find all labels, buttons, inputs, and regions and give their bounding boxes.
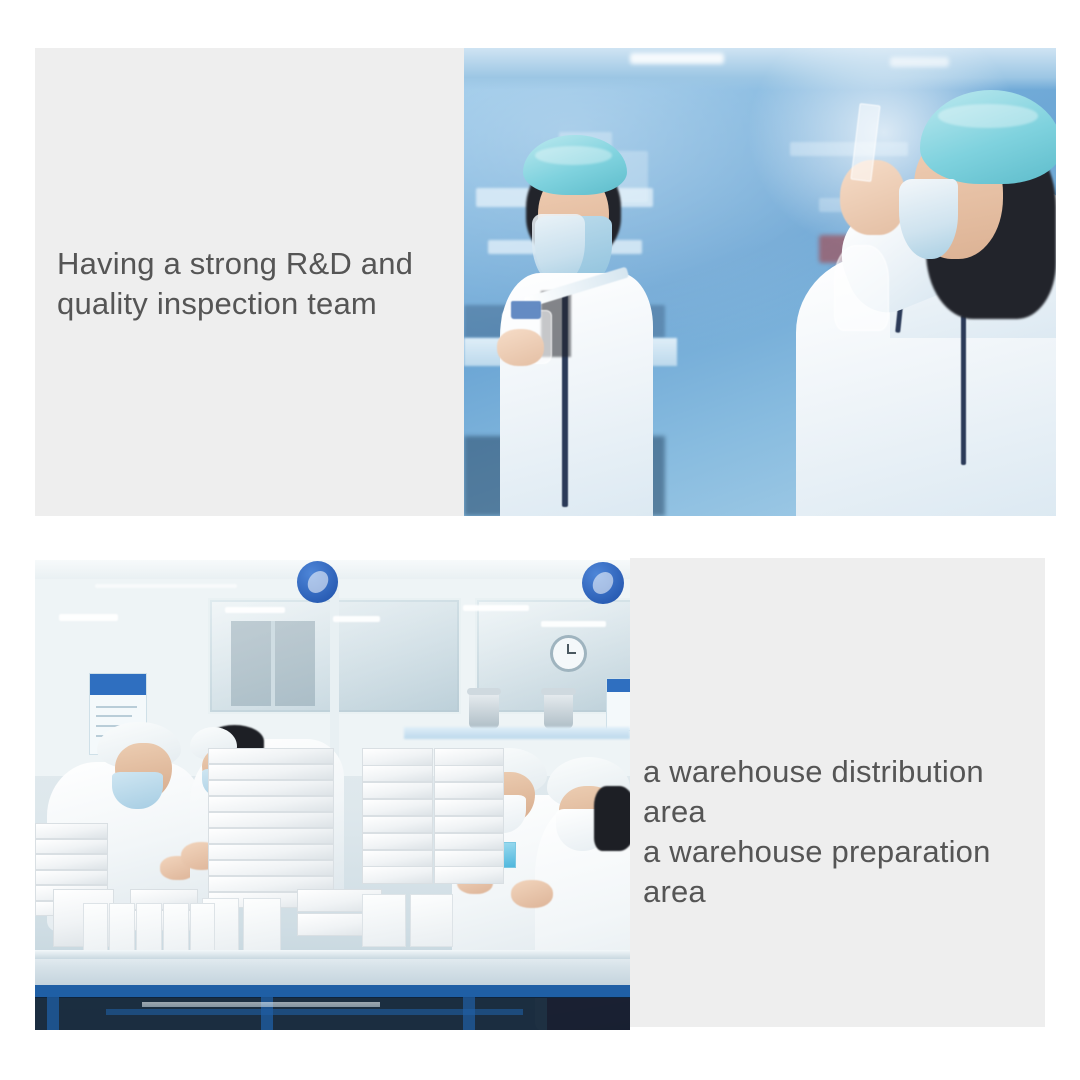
carton-stack — [208, 748, 333, 908]
carton-vertical — [243, 898, 281, 956]
worker-4-hand — [511, 880, 553, 908]
lab-ceiling-light — [630, 53, 725, 65]
table-shelf-item — [142, 1002, 380, 1008]
worker-b-hairnet-highlight — [938, 104, 1039, 127]
notice-board — [606, 678, 630, 732]
ceiling-light-tube — [463, 605, 528, 611]
notice-header — [607, 679, 630, 692]
stainless-pot — [544, 692, 574, 730]
sign-glyph — [305, 571, 330, 593]
table-cross-brace — [106, 1009, 523, 1016]
pot-lid — [467, 688, 502, 696]
stainless-worktop — [35, 955, 630, 988]
warehouse-packing-photo — [35, 560, 630, 1030]
worker-a-hand — [497, 329, 544, 366]
bottom-caption-text: a warehouse distribution area a warehous… — [643, 752, 1045, 912]
stainless-pot — [469, 692, 499, 730]
back-counter — [404, 727, 630, 739]
worktop-edge — [35, 950, 630, 959]
table-frame-rail — [35, 985, 630, 997]
top-caption-text: Having a strong R&D and quality inspecti… — [57, 244, 457, 324]
conical-flask — [834, 245, 889, 331]
worker-4-hair — [594, 786, 630, 852]
lab-rack — [790, 142, 908, 156]
bottle-cap — [511, 301, 541, 320]
lab-ceiling-light — [890, 57, 949, 66]
lab-inspection-photo — [464, 48, 1056, 516]
notice-text-line — [96, 715, 132, 717]
ceiling-light-tube — [59, 614, 119, 621]
worker-a-hairnet-highlight — [535, 146, 612, 165]
notice-text-line — [96, 706, 137, 708]
worker-b-coat-trim — [961, 315, 966, 465]
wall-clock — [550, 635, 587, 672]
pot-lid — [541, 688, 576, 696]
worker-b-face-mask — [899, 179, 958, 259]
clock-hand — [568, 652, 576, 654]
worker-b-gloved-hand — [840, 160, 905, 235]
ceiling-light-tube — [225, 607, 285, 613]
promo-image-canvas: Having a strong R&D and quality inspecti… — [0, 0, 1080, 1080]
door-mullion — [271, 621, 276, 706]
carton-stack — [362, 748, 505, 889]
table-leg — [47, 997, 59, 1030]
ceiling-light-tube — [333, 616, 381, 622]
notice-header — [90, 674, 147, 695]
carton-vertical — [410, 894, 454, 948]
carton-vertical — [362, 894, 406, 948]
ceiling-sign-icon — [582, 562, 624, 604]
ceiling-light-tube — [541, 621, 606, 627]
sign-glyph — [591, 572, 616, 594]
ceiling-light-tube — [95, 584, 238, 589]
